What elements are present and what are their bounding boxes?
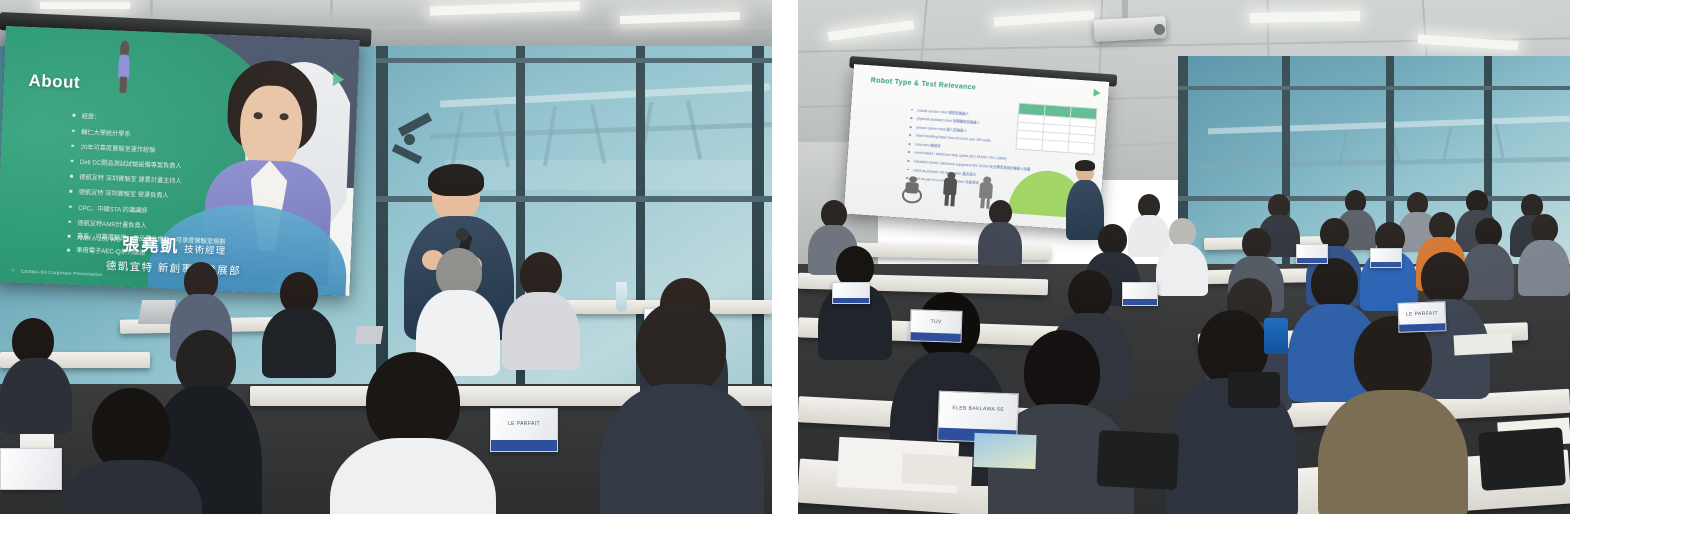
presenter-hair [1075,160,1095,171]
box-label: TUV [911,319,961,327]
brochure [973,433,1036,469]
ceiling-light [1418,35,1518,51]
product-box [832,282,870,304]
slide-mini-figure-icon [113,41,135,93]
box-label: LE PARFAIT [491,421,557,427]
slide-about: About 經歷： 輔仁大學統計學系 20年可靠度實驗室運作經驗 Dell DC… [0,26,360,296]
wheelchair-user-icon [900,175,925,204]
ceiling-light [1250,11,1360,23]
chair [1478,427,1566,491]
product-box: LE PARFAIT [1397,301,1446,333]
product-box: LE PARFAIT [490,408,558,452]
attendee [1518,214,1570,292]
chair [1228,372,1280,408]
chair [1097,430,1180,490]
ceiling-light [620,12,740,24]
walking-person-icon [939,171,963,207]
attendee [502,252,580,364]
attendee [1156,218,1208,290]
chevron-right-icon [333,72,345,86]
paper-sheet [1454,332,1513,355]
microphone-head-icon [456,228,469,241]
slide-speaker-name: 張堯凱技術經理 [122,230,227,259]
ceiling-light [40,2,130,9]
product-box [1296,244,1328,264]
blue-can [1264,318,1288,354]
product-box [1122,282,1158,306]
attendee [330,352,496,514]
paper-stack [0,448,62,490]
ceiling-light [994,11,1094,27]
ceiling-light [828,20,914,41]
projector-lens-icon [1154,24,1165,35]
attendee [262,272,336,372]
slide-page-number: 7 [12,268,15,273]
laptop [355,326,384,344]
slide-heading: Robot Type & Test Relevance [871,77,977,91]
box-label: LE PARFAIT [1399,310,1445,318]
attendee [1318,316,1468,514]
projection-screen-left[interactable]: About 經歷： 輔仁大學統計學系 20年可靠度實驗室運作經驗 Dell DC… [0,26,360,296]
attendee [600,300,760,514]
attendee [978,200,1022,262]
attendee [0,318,70,428]
product-box [1370,248,1402,268]
box-label: ELEB BAKLAWA SE [939,405,1017,414]
speaker-name-text: 張堯凱 [122,235,180,256]
photo-right-classroom[interactable]: Robot Type & Test Relevance mobile servi… [798,0,1570,514]
ceiling-light [430,1,580,15]
presenter-hair [428,164,484,196]
attendee [62,388,202,514]
speaker-title-text: 技術經理 [184,244,226,257]
product-box: TUV [909,309,962,343]
chevron-right-icon [1094,88,1102,96]
slide-table [1015,103,1097,155]
slide-heading: About [28,70,80,92]
paper-sheet [901,453,972,487]
photo-left-speaker[interactable]: About 經歷： 輔仁大學統計學系 20年可靠度實驗室運作經驗 Dell DC… [0,0,772,514]
photo-pair: About 經歷： 輔仁大學統計學系 20年可靠度實驗室運作經驗 Dell DC… [0,0,1700,550]
